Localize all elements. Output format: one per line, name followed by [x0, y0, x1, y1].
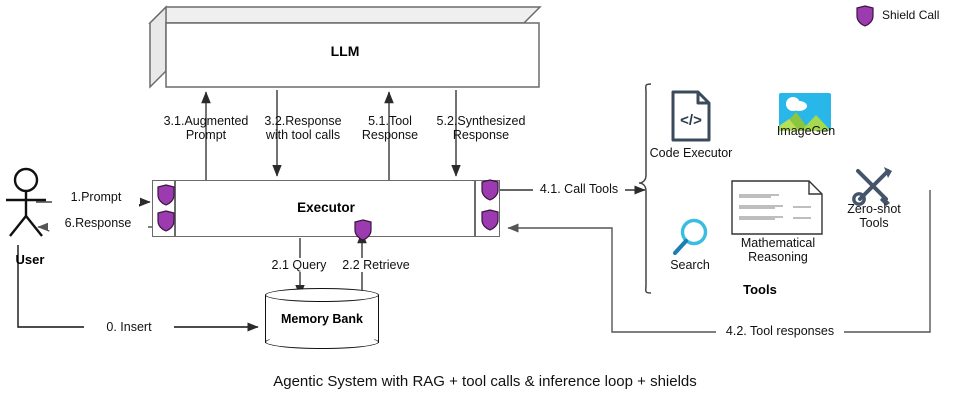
shield-icon-executor-left-top [157, 184, 175, 206]
edge-label-6-response: 6.Response [48, 216, 148, 230]
edge-label-4-2-tool-responses: 4.2. Tool responses [716, 324, 844, 338]
edge-label-2-1-query: 2.1 Query [261, 258, 337, 272]
formula-document-icon[interactable] [731, 180, 823, 235]
legend-label: Shield Call [882, 8, 939, 22]
edge-label-2-2-retrieve: 2.2 Retrieve [330, 258, 422, 272]
svg-text:</>: </> [680, 112, 702, 129]
tool-label-imagegen: ImageGen [761, 124, 851, 138]
shield-icon-executor-right-top [481, 179, 499, 201]
cylinder-top [265, 288, 379, 302]
executor-label: Executor [152, 200, 500, 215]
tools-group-label: Tools [700, 282, 820, 297]
llm-label: LLM [150, 43, 540, 59]
edge-label-4-1-call-tools: 4.1. Call Tools [533, 182, 625, 196]
tool-label-search: Search [650, 258, 730, 272]
cylinder-bottom [265, 335, 379, 349]
wrench-screwdriver-icon[interactable] [850, 163, 896, 207]
tool-label-zero-shot-tools: Zero-shot Tools [838, 202, 910, 230]
magnifier-icon[interactable] [669, 217, 711, 259]
tool-label-code-executor: Code Executor [641, 146, 741, 160]
shield-icon-executor-left-bottom [157, 210, 175, 232]
shield-icon-executor-right-bottom [481, 209, 499, 231]
shield-icon-legend [856, 5, 874, 25]
code-document-icon[interactable]: </> [671, 90, 711, 142]
user-label: User [0, 252, 60, 267]
edge-label-0-insert: 0. Insert [84, 320, 174, 334]
edge-label-5-2: 5.2.Synthesized Response [416, 114, 546, 142]
tool-label-mathematical-reasoning: Mathematical Reasoning [723, 236, 833, 264]
memory-bank-label: Memory Bank [265, 312, 379, 326]
shield-icon-executor-bottom-center [354, 219, 372, 241]
edge-label-1-prompt: 1.Prompt [52, 190, 140, 204]
diagram-caption: Agentic System with RAG + tool calls & i… [0, 373, 970, 390]
